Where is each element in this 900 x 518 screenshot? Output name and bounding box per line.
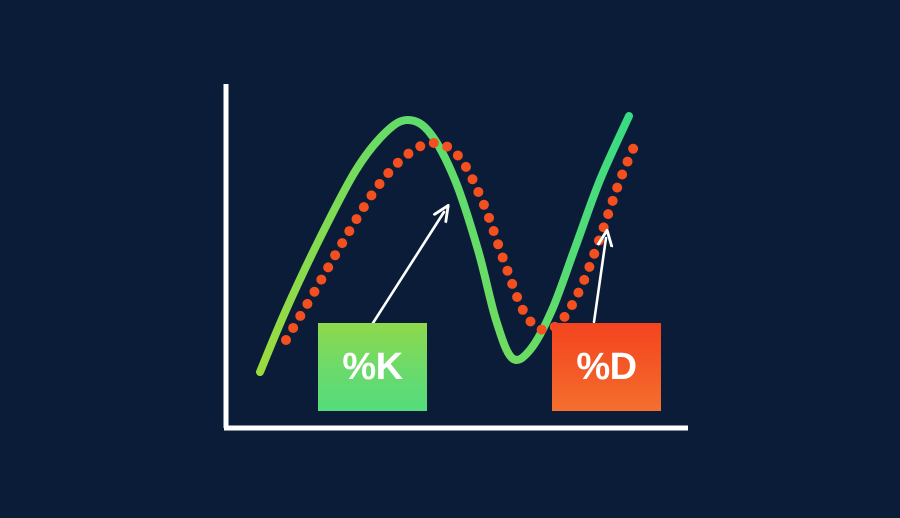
percent-d-dot <box>612 183 622 193</box>
percent-d-dot <box>393 158 403 168</box>
percent-d-dot <box>512 292 522 302</box>
percent-d-dot <box>502 266 512 276</box>
percent-d-dot <box>518 305 528 315</box>
chart-canvas: %K %D <box>0 0 900 518</box>
percent-d-dot <box>594 236 604 246</box>
percent-d-dot <box>584 262 594 272</box>
percent-d-dot <box>281 335 291 345</box>
percent-d-dot <box>608 196 618 206</box>
percent-d-dot <box>498 253 508 263</box>
percent-d-dot <box>352 214 362 224</box>
percent-d-dot <box>453 150 463 160</box>
percent-d-legend-box[interactable]: %D <box>552 323 661 411</box>
percent-d-dot <box>484 213 494 223</box>
percent-d-dot <box>573 288 583 298</box>
percent-d-dot <box>344 226 354 236</box>
percent-d-dot <box>288 323 298 333</box>
percent-d-dot <box>442 142 452 152</box>
percent-d-dot <box>323 262 333 272</box>
percent-d-dot <box>589 249 599 259</box>
percent-d-dot <box>599 222 609 232</box>
stochastic-oscillator-chart <box>0 0 900 518</box>
percent-d-dot <box>403 149 413 159</box>
percent-d-legend-label: %D <box>576 348 636 386</box>
percent-d-dot <box>537 325 547 335</box>
percent-d-dot <box>489 226 499 236</box>
percent-d-dot <box>525 316 535 326</box>
percent-k-legend-box[interactable]: %K <box>318 323 427 411</box>
percent-k-callout-arrow <box>373 212 444 323</box>
percent-d-dot <box>309 287 319 297</box>
percent-d-dot <box>493 239 503 249</box>
percent-d-dot <box>375 179 385 189</box>
percent-d-dot <box>337 238 347 248</box>
percent-d-dot <box>467 174 477 184</box>
percent-d-dot <box>579 275 589 285</box>
percent-d-dot <box>623 157 633 167</box>
percent-d-dot <box>628 144 638 154</box>
percent-d-dot <box>473 187 483 197</box>
percent-d-dot <box>359 202 369 212</box>
percent-d-dot <box>366 190 376 200</box>
percent-d-dot <box>603 209 613 219</box>
percent-d-dot <box>461 162 471 172</box>
percent-d-dot <box>429 138 439 148</box>
percent-d-dot <box>330 250 340 260</box>
series-percent-d-dotted <box>281 138 638 345</box>
percent-d-dot <box>560 312 570 322</box>
percent-d-dot <box>415 141 425 151</box>
percent-d-dot <box>383 168 393 178</box>
percent-k-legend-label: %K <box>342 348 402 386</box>
percent-d-dot <box>316 275 326 285</box>
percent-d-dot <box>479 200 489 210</box>
percent-d-dot <box>302 299 312 309</box>
percent-d-dot <box>507 279 517 289</box>
percent-d-dot <box>295 311 305 321</box>
percent-d-dot <box>567 300 577 310</box>
percent-d-dot <box>617 170 627 180</box>
